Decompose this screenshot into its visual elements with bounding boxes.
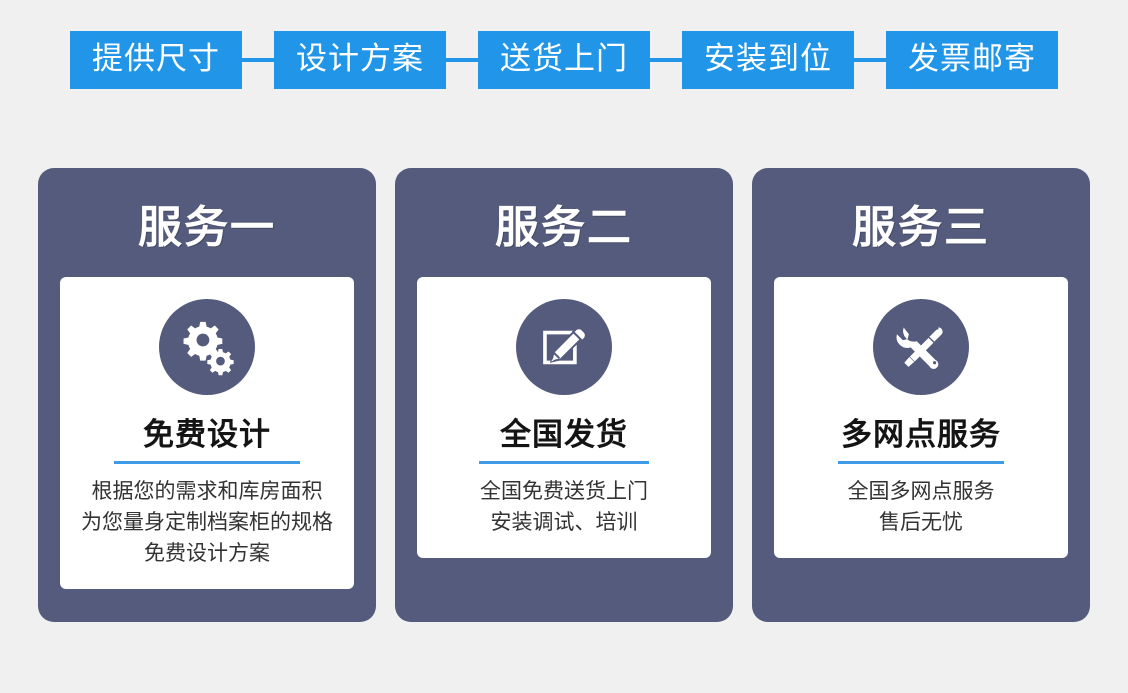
service-card-1-description: 根据您的需求和库房面积 为您量身定制档案柜的规格 免费设计方案 xyxy=(81,476,333,569)
step-connector-3 xyxy=(650,58,682,62)
step-connector-2 xyxy=(446,58,478,62)
step-pill-4[interactable]: 安装到位 xyxy=(682,31,854,89)
service-card-2-title: 全国发货 xyxy=(500,417,628,453)
service-card-1-heading: 服务一 xyxy=(138,200,276,255)
step-pill-3[interactable]: 送货上门 xyxy=(478,31,650,89)
step-connector-1 xyxy=(242,58,274,62)
service-card-3-panel: 多网点服务 全国多网点服务 售后无忧 xyxy=(774,277,1068,558)
process-steps-bar: 提供尺寸 设计方案 送货上门 安装到位 发票邮寄 xyxy=(0,0,1128,120)
step-pill-5[interactable]: 发票邮寄 xyxy=(886,31,1058,89)
step-pill-2[interactable]: 设计方案 xyxy=(274,31,446,89)
service-card-2-panel: 全国发货 全国免费送货上门 安装调试、培训 xyxy=(417,277,711,558)
gears-icon xyxy=(159,299,255,395)
service-card-1[interactable]: 服务一 免费设计 根据您的需求和库房面积 为您量身定制档案柜的规格 免费设计方案 xyxy=(38,168,376,622)
service-card-2-heading: 服务二 xyxy=(495,200,633,255)
service-card-2-rule xyxy=(479,461,649,464)
pencil-edit-icon xyxy=(516,299,612,395)
step-connector-4 xyxy=(854,58,886,62)
service-card-1-title: 免费设计 xyxy=(143,417,271,453)
service-card-3[interactable]: 服务三 多网点服务 全国多网点 xyxy=(752,168,1090,622)
service-card-3-description: 全国多网点服务 售后无忧 xyxy=(848,476,995,538)
service-card-3-title: 多网点服务 xyxy=(841,417,1001,453)
service-cards-row: 服务一 免费设计 根据您的需求和库房面积 为您量身定制档案柜的规格 免费设计方案… xyxy=(38,168,1090,622)
service-card-3-heading: 服务三 xyxy=(852,200,990,255)
service-card-2-description: 全国免费送货上门 安装调试、培训 xyxy=(480,476,648,538)
step-pill-1[interactable]: 提供尺寸 xyxy=(70,31,242,89)
wrench-screwdriver-icon xyxy=(873,299,969,395)
service-card-1-rule xyxy=(114,461,300,464)
service-card-1-panel: 免费设计 根据您的需求和库房面积 为您量身定制档案柜的规格 免费设计方案 xyxy=(60,277,354,589)
service-card-2[interactable]: 服务二 全国发货 全国免费送货上门 安装调试、培训 xyxy=(395,168,733,622)
service-card-3-rule xyxy=(838,461,1004,464)
